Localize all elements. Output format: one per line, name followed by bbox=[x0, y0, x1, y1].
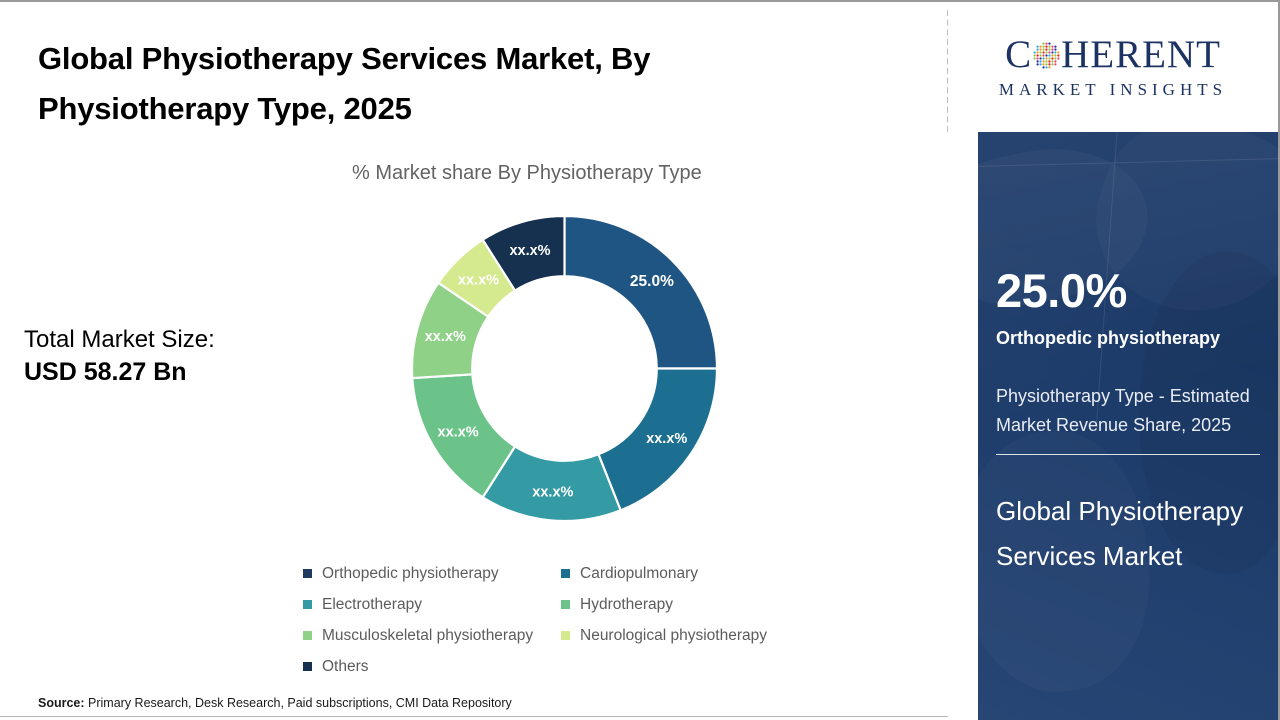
highlight-stat-category: Orthopedic physiotherapy bbox=[996, 324, 1260, 353]
globe-dot bbox=[1042, 42, 1044, 44]
globe-dot bbox=[1037, 60, 1039, 62]
source-text: Primary Research, Desk Research, Paid su… bbox=[85, 696, 512, 710]
donut-slice-label: xx.x% bbox=[532, 485, 573, 501]
highlight-stat-percent: 25.0% bbox=[996, 267, 1127, 314]
globe-dot bbox=[1045, 54, 1047, 56]
globe-dot bbox=[1054, 54, 1056, 56]
legend-label: Musculoskeletal physiotherapy bbox=[322, 627, 533, 645]
chart-pane: Global Physiotherapy Services Market, By… bbox=[0, 2, 948, 720]
globe-dot bbox=[1040, 48, 1042, 50]
globe-dot bbox=[1045, 42, 1047, 44]
donut-chart-svg: 25.0%xx.x%xx.x%xx.x%xx.x%xx.x%xx.x% bbox=[412, 216, 717, 521]
panel-divider bbox=[996, 454, 1260, 455]
legend-swatch-icon bbox=[303, 569, 312, 578]
donut-slice-label: xx.x% bbox=[458, 273, 499, 289]
globe-dot bbox=[1042, 51, 1044, 53]
globe-dot bbox=[1045, 57, 1047, 59]
globe-dot bbox=[1051, 54, 1053, 56]
globe-dot bbox=[1048, 66, 1050, 68]
globe-dot bbox=[1037, 63, 1039, 65]
globe-dot bbox=[1045, 45, 1047, 47]
source-note: Source: Primary Research, Desk Research,… bbox=[38, 696, 512, 710]
globe-dot bbox=[1048, 60, 1050, 62]
highlight-headline: Global Physiotherapy Services Market bbox=[996, 489, 1260, 578]
globe-dot bbox=[1045, 63, 1047, 65]
globe-dot bbox=[1045, 48, 1047, 50]
donut-slice-label: xx.x% bbox=[646, 431, 687, 447]
total-market-size-value: USD 58.27 Bn bbox=[24, 356, 354, 389]
globe-dot bbox=[1045, 51, 1047, 53]
company-logo: C HERENT MARKET INSIGHTS bbox=[948, 2, 1278, 132]
globe-dot bbox=[1051, 57, 1053, 59]
legend-item[interactable]: Orthopedic physiotherapy bbox=[303, 565, 561, 583]
legend-swatch-icon bbox=[303, 600, 312, 609]
globe-dot bbox=[1034, 51, 1036, 53]
globe-dot bbox=[1040, 51, 1042, 53]
globe-dot bbox=[1037, 51, 1039, 53]
globe-dot bbox=[1037, 48, 1039, 50]
globe-dot bbox=[1048, 45, 1050, 47]
donut-slices bbox=[412, 216, 717, 521]
globe-dot bbox=[1040, 45, 1042, 47]
total-market-size-label: Total Market Size: bbox=[24, 324, 354, 356]
globe-dot bbox=[1037, 45, 1039, 47]
globe-dot bbox=[1037, 54, 1039, 56]
globe-dot bbox=[1054, 60, 1056, 62]
globe-dots-icon bbox=[1033, 42, 1060, 69]
donut-slice-label: xx.x% bbox=[425, 329, 466, 345]
footer-divider bbox=[0, 716, 948, 717]
legend-row: ElectrotherapyHydrotherapy bbox=[303, 589, 823, 620]
legend-label: Neurological physiotherapy bbox=[580, 627, 767, 645]
globe-dot bbox=[1048, 57, 1050, 59]
globe-dot bbox=[1051, 51, 1053, 53]
globe-dot bbox=[1048, 51, 1050, 53]
legend-swatch-icon bbox=[561, 569, 570, 578]
donut-chart: 25.0%xx.x%xx.x%xx.x%xx.x%xx.x%xx.x% bbox=[412, 216, 717, 521]
logo-tagline: MARKET INSIGHTS bbox=[999, 80, 1227, 100]
legend-label: Orthopedic physiotherapy bbox=[322, 565, 499, 583]
legend-swatch-icon bbox=[303, 662, 312, 671]
legend-item[interactable]: Hydrotherapy bbox=[561, 596, 811, 614]
globe-dot bbox=[1051, 45, 1053, 47]
legend-label: Electrotherapy bbox=[322, 596, 422, 614]
legend-label: Others bbox=[322, 658, 369, 676]
total-market-size-block: Total Market Size: USD 58.27 Bn bbox=[24, 324, 354, 389]
globe-dot bbox=[1040, 63, 1042, 65]
legend-swatch-icon bbox=[303, 631, 312, 640]
globe-dot bbox=[1054, 45, 1056, 47]
logo-word-rest: HERENT bbox=[1061, 35, 1221, 74]
globe-dot bbox=[1042, 60, 1044, 62]
legend-swatch-icon bbox=[561, 631, 570, 640]
legend-row: Orthopedic physiotherapyCardiopulmonary bbox=[303, 558, 823, 589]
globe-dot bbox=[1042, 48, 1044, 50]
legend-swatch-icon bbox=[561, 600, 570, 609]
globe-dot bbox=[1042, 57, 1044, 59]
brand-pane: C HERENT MARKET INSIGHTS 25.0% Orthopedi… bbox=[948, 2, 1278, 720]
globe-dot bbox=[1042, 54, 1044, 56]
globe-dot bbox=[1054, 63, 1056, 65]
globe-dot bbox=[1057, 51, 1059, 53]
globe-dot bbox=[1042, 45, 1044, 47]
globe-dot bbox=[1045, 60, 1047, 62]
globe-dot bbox=[1042, 63, 1044, 65]
legend-label: Hydrotherapy bbox=[580, 596, 673, 614]
donut-slice bbox=[565, 216, 718, 369]
globe-dot bbox=[1037, 57, 1039, 59]
panel-texture bbox=[978, 158, 1278, 167]
globe-dot bbox=[1045, 66, 1047, 68]
globe-dot bbox=[1051, 63, 1053, 65]
chart-subtitle: % Market share By Physiotherapy Type bbox=[352, 162, 702, 185]
globe-dot bbox=[1057, 54, 1059, 56]
donut-slice-label: 25.0% bbox=[630, 273, 674, 290]
legend-item[interactable]: Electrotherapy bbox=[303, 596, 561, 614]
globe-dot bbox=[1034, 54, 1036, 56]
globe-dot bbox=[1051, 60, 1053, 62]
legend-label: Cardiopulmonary bbox=[580, 565, 698, 583]
globe-dot bbox=[1040, 54, 1042, 56]
legend-item[interactable]: Others bbox=[303, 658, 561, 676]
globe-dot bbox=[1048, 48, 1050, 50]
globe-dot bbox=[1048, 42, 1050, 44]
legend-row: Musculoskeletal physiotherapyNeurologica… bbox=[303, 620, 823, 651]
globe-dot bbox=[1048, 54, 1050, 56]
logo-letter-c: C bbox=[1005, 35, 1032, 74]
globe-dot bbox=[1054, 48, 1056, 50]
legend-row: Others bbox=[303, 651, 823, 682]
page-title: Global Physiotherapy Services Market, By… bbox=[38, 34, 818, 134]
globe-dot bbox=[1054, 57, 1056, 59]
donut-slice-label: xx.x% bbox=[438, 424, 479, 440]
highlight-panel: 25.0% Orthopedic physiotherapy Physiothe… bbox=[978, 132, 1278, 720]
globe-dot bbox=[1042, 66, 1044, 68]
donut-slice-label: xx.x% bbox=[509, 243, 550, 259]
legend-item[interactable]: Musculoskeletal physiotherapy bbox=[303, 627, 561, 645]
legend-item[interactable]: Neurological physiotherapy bbox=[561, 627, 811, 645]
chart-legend: Orthopedic physiotherapyCardiopulmonaryE… bbox=[303, 558, 823, 682]
globe-dot bbox=[1057, 57, 1059, 59]
highlight-stat-description: Physiotherapy Type - Estimated Market Re… bbox=[996, 382, 1260, 440]
globe-dot bbox=[1034, 57, 1036, 59]
globe-dot bbox=[1040, 57, 1042, 59]
source-label: Source: bbox=[38, 696, 85, 710]
globe-dot bbox=[1040, 60, 1042, 62]
legend-item[interactable]: Cardiopulmonary bbox=[561, 565, 811, 583]
globe-dot bbox=[1051, 48, 1053, 50]
globe-dot bbox=[1048, 63, 1050, 65]
logo-wordmark: C HERENT bbox=[1005, 35, 1221, 74]
infographic-page: Global Physiotherapy Services Market, By… bbox=[0, 0, 1280, 720]
globe-dot bbox=[1054, 51, 1056, 53]
